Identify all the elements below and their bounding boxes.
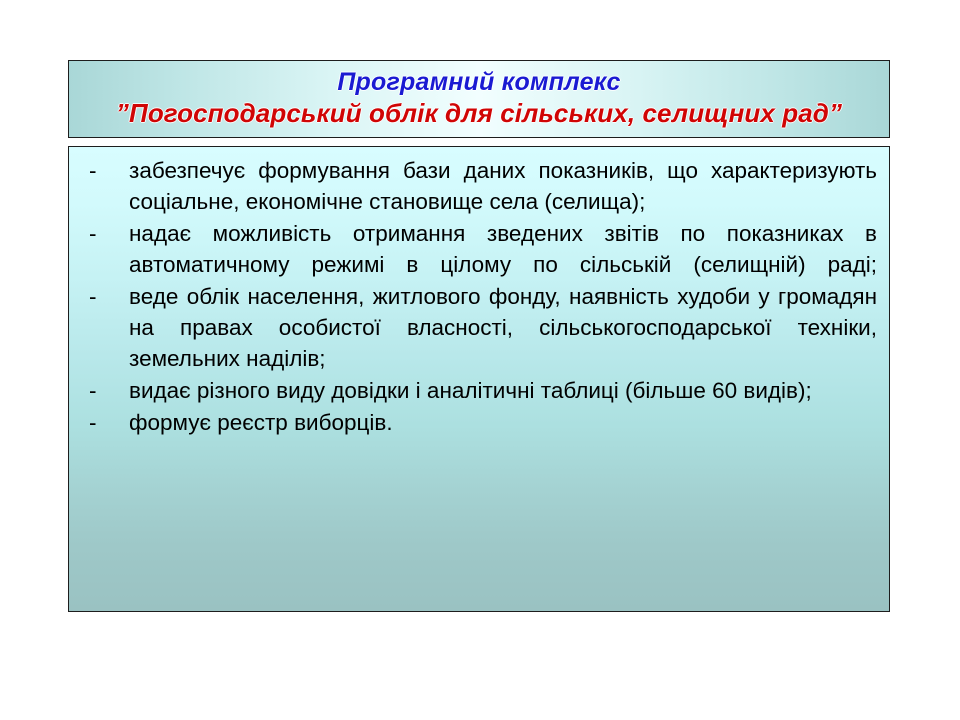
- list-item: - видає різного виду довідки і аналітичн…: [79, 375, 877, 406]
- title-box: Програмний комплекс ”Погосподарський обл…: [68, 60, 890, 138]
- list-item: - надає можливість отримання зведених зв…: [79, 218, 877, 280]
- bullet-dash-icon: -: [89, 407, 103, 438]
- list-item-text: забезпечує формування бази даних показни…: [129, 155, 877, 217]
- title-line-secondary: ”Погосподарський облік для сільських, се…: [116, 97, 842, 129]
- content-box: - забезпечує формування бази даних показ…: [68, 146, 890, 612]
- bullet-dash-icon: -: [89, 281, 103, 312]
- list-item: - веде облік населення, житлового фонду,…: [79, 281, 877, 374]
- slide: Програмний комплекс ”Погосподарський обл…: [0, 0, 960, 720]
- bullet-dash-icon: -: [89, 218, 103, 249]
- list-item-text: надає можливість отримання зведених звіт…: [129, 218, 877, 280]
- title-line-primary: Програмний комплекс: [337, 67, 620, 97]
- list-item: - формує реєстр виборців.: [79, 407, 877, 438]
- bullet-dash-icon: -: [89, 375, 103, 406]
- list-item-text: формує реєстр виборців.: [129, 407, 877, 438]
- feature-list: - забезпечує формування бази даних показ…: [79, 155, 877, 438]
- list-item-text: видає різного виду довідки і аналітичні …: [129, 375, 877, 406]
- list-item-text: веде облік населення, житлового фонду, н…: [129, 281, 877, 374]
- bullet-dash-icon: -: [89, 155, 103, 186]
- list-item: - забезпечує формування бази даних показ…: [79, 155, 877, 217]
